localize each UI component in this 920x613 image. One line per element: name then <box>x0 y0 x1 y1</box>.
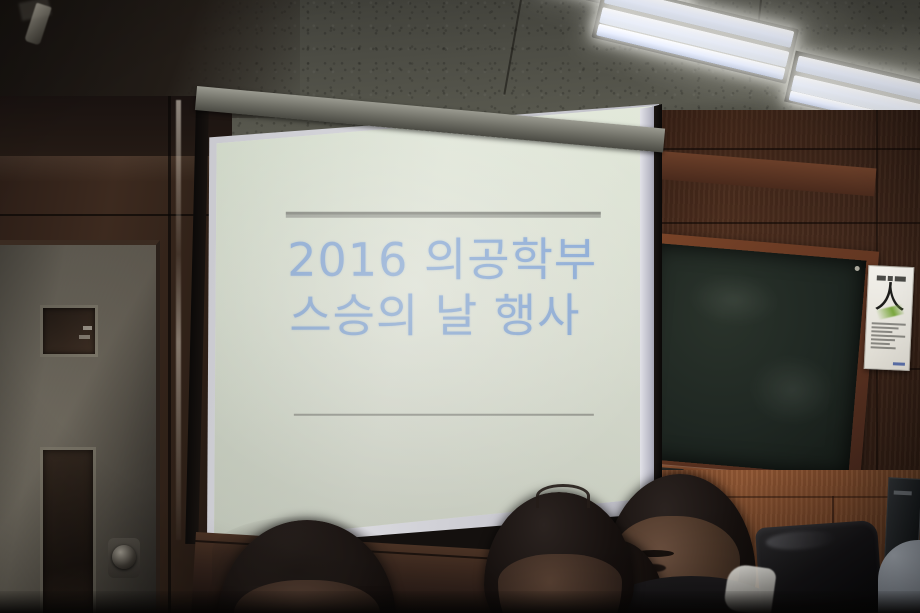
slide-title-line-2: 스승의 날 행사 <box>289 288 617 344</box>
slide-title: 2016 의공학부 스승의 날 행사 <box>287 231 617 344</box>
poster-text-lines <box>871 322 906 349</box>
chalk-smudge <box>687 270 781 329</box>
chalkboard-surface <box>635 243 866 476</box>
poster-logo <box>893 362 905 366</box>
wall-poster: 人 <box>864 265 915 371</box>
slide-title-line-1: 2016 의공학부 <box>287 232 597 286</box>
slide-bottom-rule <box>294 414 594 416</box>
lecture-hall-photo: 人 2016 <box>0 0 920 613</box>
slide-top-rule <box>286 212 601 215</box>
pillar-light-reflection <box>176 100 181 540</box>
hair <box>212 516 402 586</box>
wall-seam <box>168 96 171 613</box>
chalk-smudge <box>747 351 839 428</box>
foreground-shadow <box>0 591 920 613</box>
briefcase-highlight <box>765 529 836 552</box>
projected-slide: 2016 의공학부 스승의 날 행사 <box>210 100 657 547</box>
equipment-label <box>894 490 912 495</box>
hair-tuft <box>536 484 590 508</box>
round-doorknob-icon[interactable] <box>112 545 136 569</box>
board-corner-marker <box>854 266 859 271</box>
